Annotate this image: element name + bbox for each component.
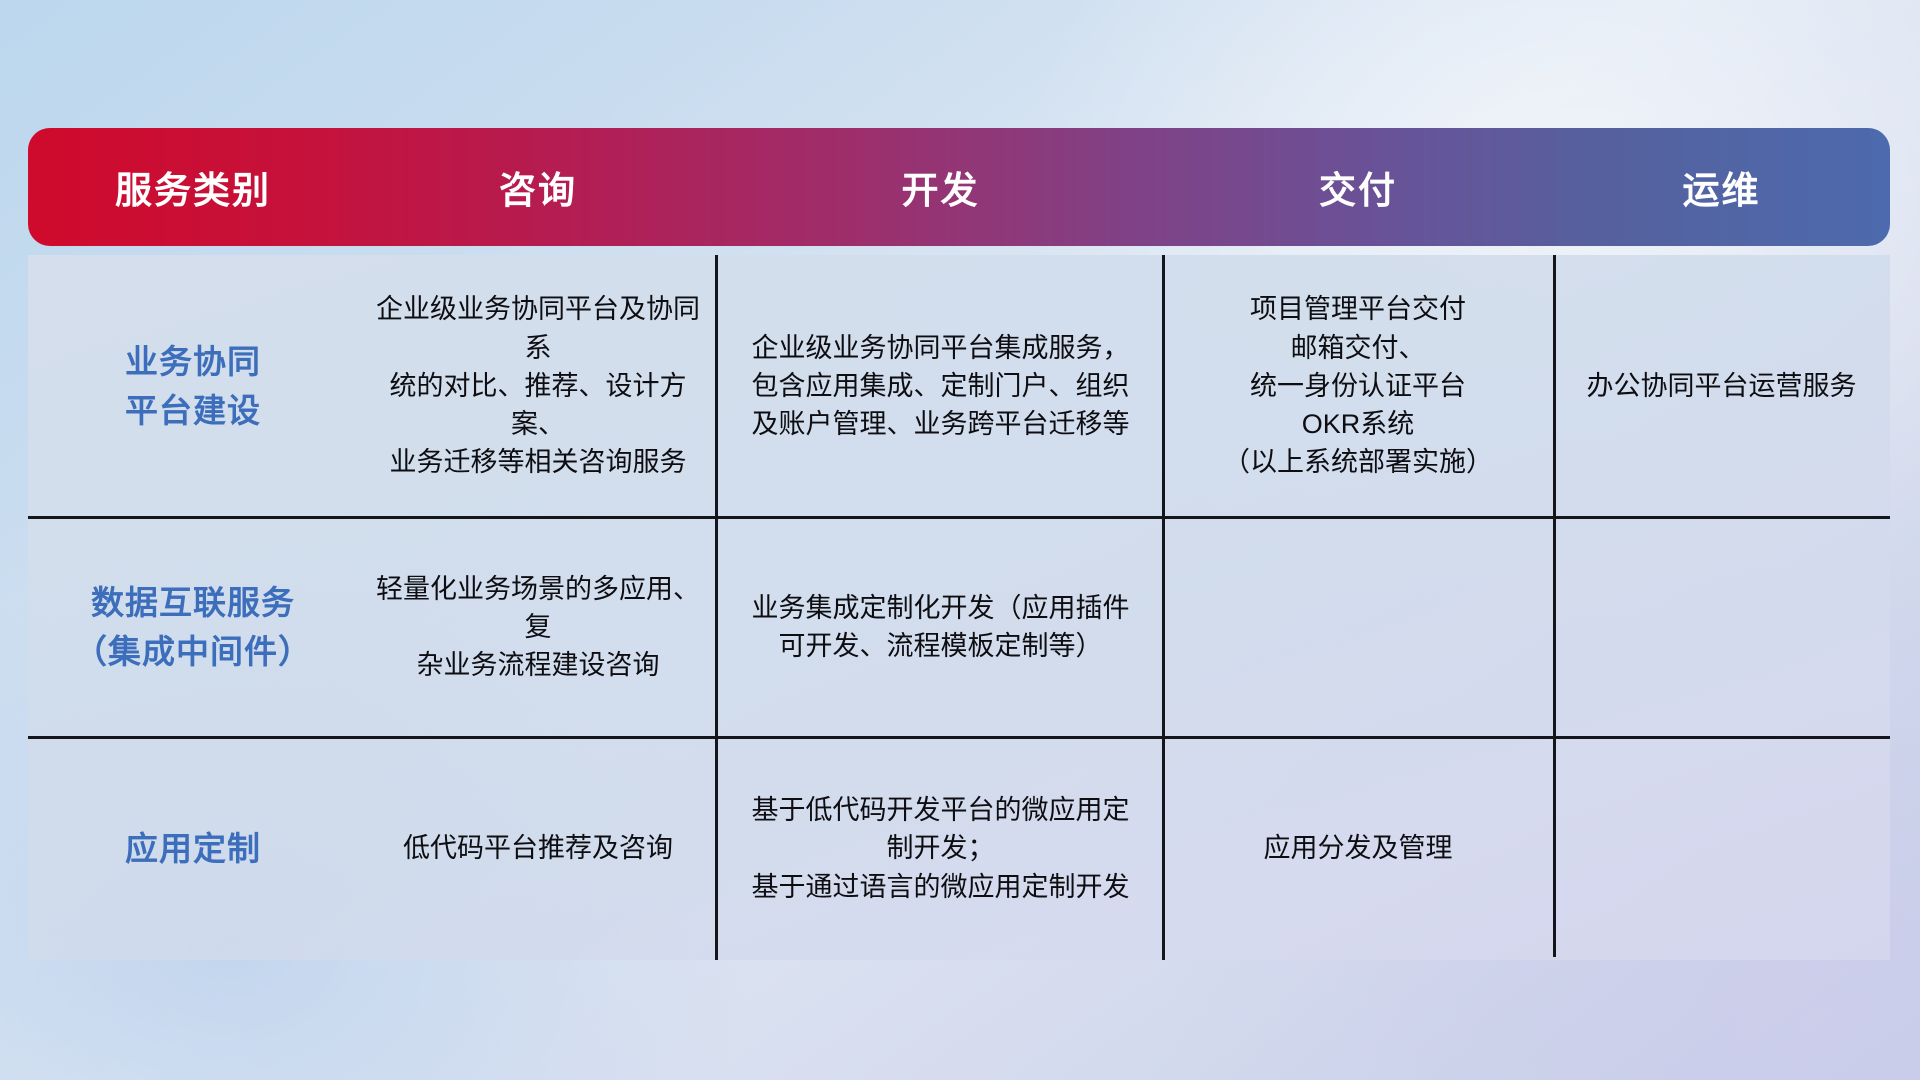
page-root: 服务类别 咨询 开发 交付 运维 业务协同 平台建设 企业级业务协同平台及协同系… bbox=[0, 0, 1920, 1080]
column-header-delivery: 交付 bbox=[1163, 160, 1553, 214]
cell-development: 企业级业务协同平台集成服务， 包含应用集成、定制门户、组织 及账户管理、业务跨平… bbox=[718, 255, 1163, 517]
row-category-label: 数据互联服务 （集成中间件） bbox=[28, 517, 358, 737]
cell-delivery: 应用分发及管理 bbox=[1163, 737, 1553, 960]
cell-development: 业务集成定制化开发（应用插件 可开发、流程模板定制等） bbox=[718, 517, 1163, 737]
table-row: 应用定制 低代码平台推荐及咨询 基于低代码开发平台的微应用定 制开发； 基于通过… bbox=[28, 737, 1890, 960]
column-divider bbox=[715, 255, 718, 960]
cell-delivery: 项目管理平台交付 邮箱交付、 统一身份认证平台 OKR系统 （以上系统部署实施） bbox=[1163, 255, 1553, 517]
column-header-development: 开发 bbox=[718, 160, 1163, 214]
column-header-category: 服务类别 bbox=[28, 160, 358, 214]
table-body: 业务协同 平台建设 企业级业务协同平台及协同系 统的对比、推荐、设计方案、 业务… bbox=[28, 255, 1890, 960]
column-header-consulting: 咨询 bbox=[358, 160, 718, 214]
row-category-label: 应用定制 bbox=[28, 737, 358, 960]
cell-delivery bbox=[1163, 517, 1553, 737]
cell-development: 基于低代码开发平台的微应用定 制开发； 基于通过语言的微应用定制开发 bbox=[718, 737, 1163, 960]
cell-consulting: 企业级业务协同平台及协同系 统的对比、推荐、设计方案、 业务迁移等相关咨询服务 bbox=[358, 255, 718, 517]
row-category-label: 业务协同 平台建设 bbox=[28, 255, 358, 517]
table-header-row: 服务类别 咨询 开发 交付 运维 bbox=[28, 128, 1890, 246]
service-matrix-table: 服务类别 咨询 开发 交付 运维 业务协同 平台建设 企业级业务协同平台及协同系… bbox=[28, 128, 1890, 960]
table-row: 业务协同 平台建设 企业级业务协同平台及协同系 统的对比、推荐、设计方案、 业务… bbox=[28, 255, 1890, 517]
column-divider bbox=[1162, 255, 1165, 960]
column-header-operations: 运维 bbox=[1553, 160, 1890, 214]
row-divider bbox=[28, 736, 1890, 739]
cell-consulting: 轻量化业务场景的多应用、复 杂业务流程建设咨询 bbox=[358, 517, 718, 737]
cell-operations bbox=[1553, 517, 1890, 737]
cell-operations: 办公协同平台运营服务 bbox=[1553, 255, 1890, 517]
column-divider bbox=[1553, 255, 1556, 957]
cell-operations bbox=[1553, 737, 1890, 960]
row-divider bbox=[28, 516, 1890, 519]
table-row: 数据互联服务 （集成中间件） 轻量化业务场景的多应用、复 杂业务流程建设咨询 业… bbox=[28, 517, 1890, 737]
cell-consulting: 低代码平台推荐及咨询 bbox=[358, 737, 718, 960]
